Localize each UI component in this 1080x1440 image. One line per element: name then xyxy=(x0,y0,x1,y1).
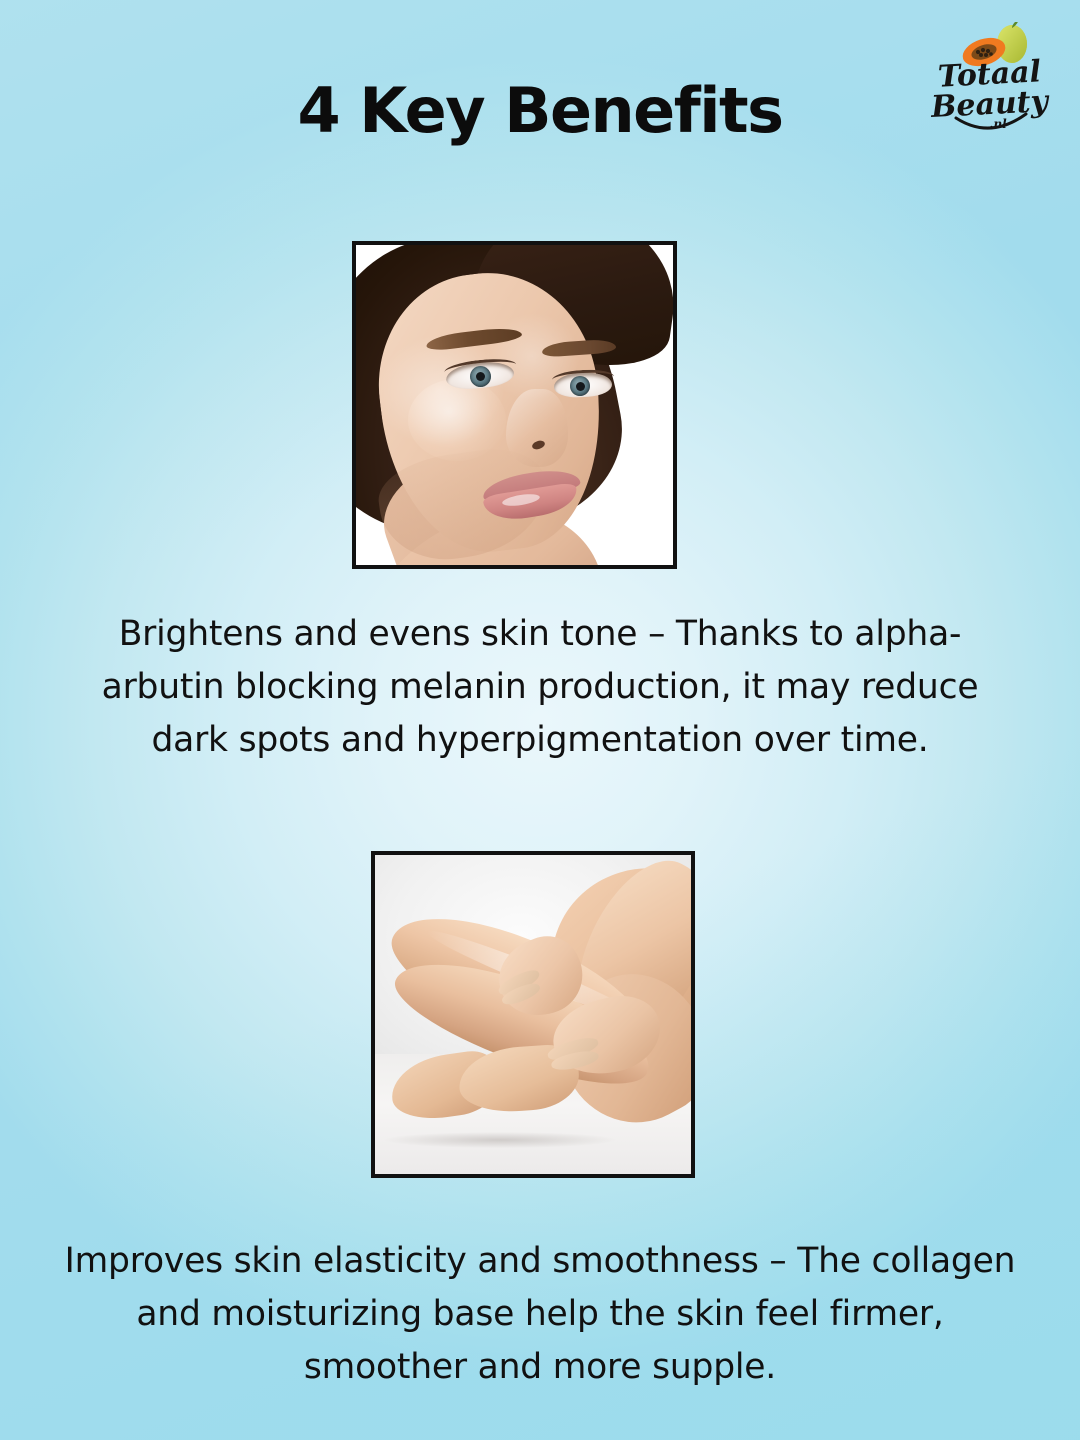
benefit-1-photo-frame xyxy=(352,241,677,569)
nose-shape xyxy=(506,389,568,467)
floor-shadow xyxy=(385,1132,615,1148)
benefit-2-caption: Improves skin elasticity and smoothness … xyxy=(0,1235,1080,1393)
page-title: 4 Key Benefits xyxy=(0,78,1080,143)
infographic-page: Totaal Beauty .nl 4 Key Benefits xyxy=(0,0,1080,1440)
benefit-1-caption: Brightens and evens skin tone – Thanks t… xyxy=(0,608,1080,766)
benefit-2-photo-frame xyxy=(371,851,695,1178)
left-pupil xyxy=(476,372,485,381)
right-pupil xyxy=(576,382,585,391)
cheek-highlight xyxy=(408,379,506,461)
smooth-legs-image xyxy=(375,855,691,1174)
portrait-face-image xyxy=(356,245,673,565)
